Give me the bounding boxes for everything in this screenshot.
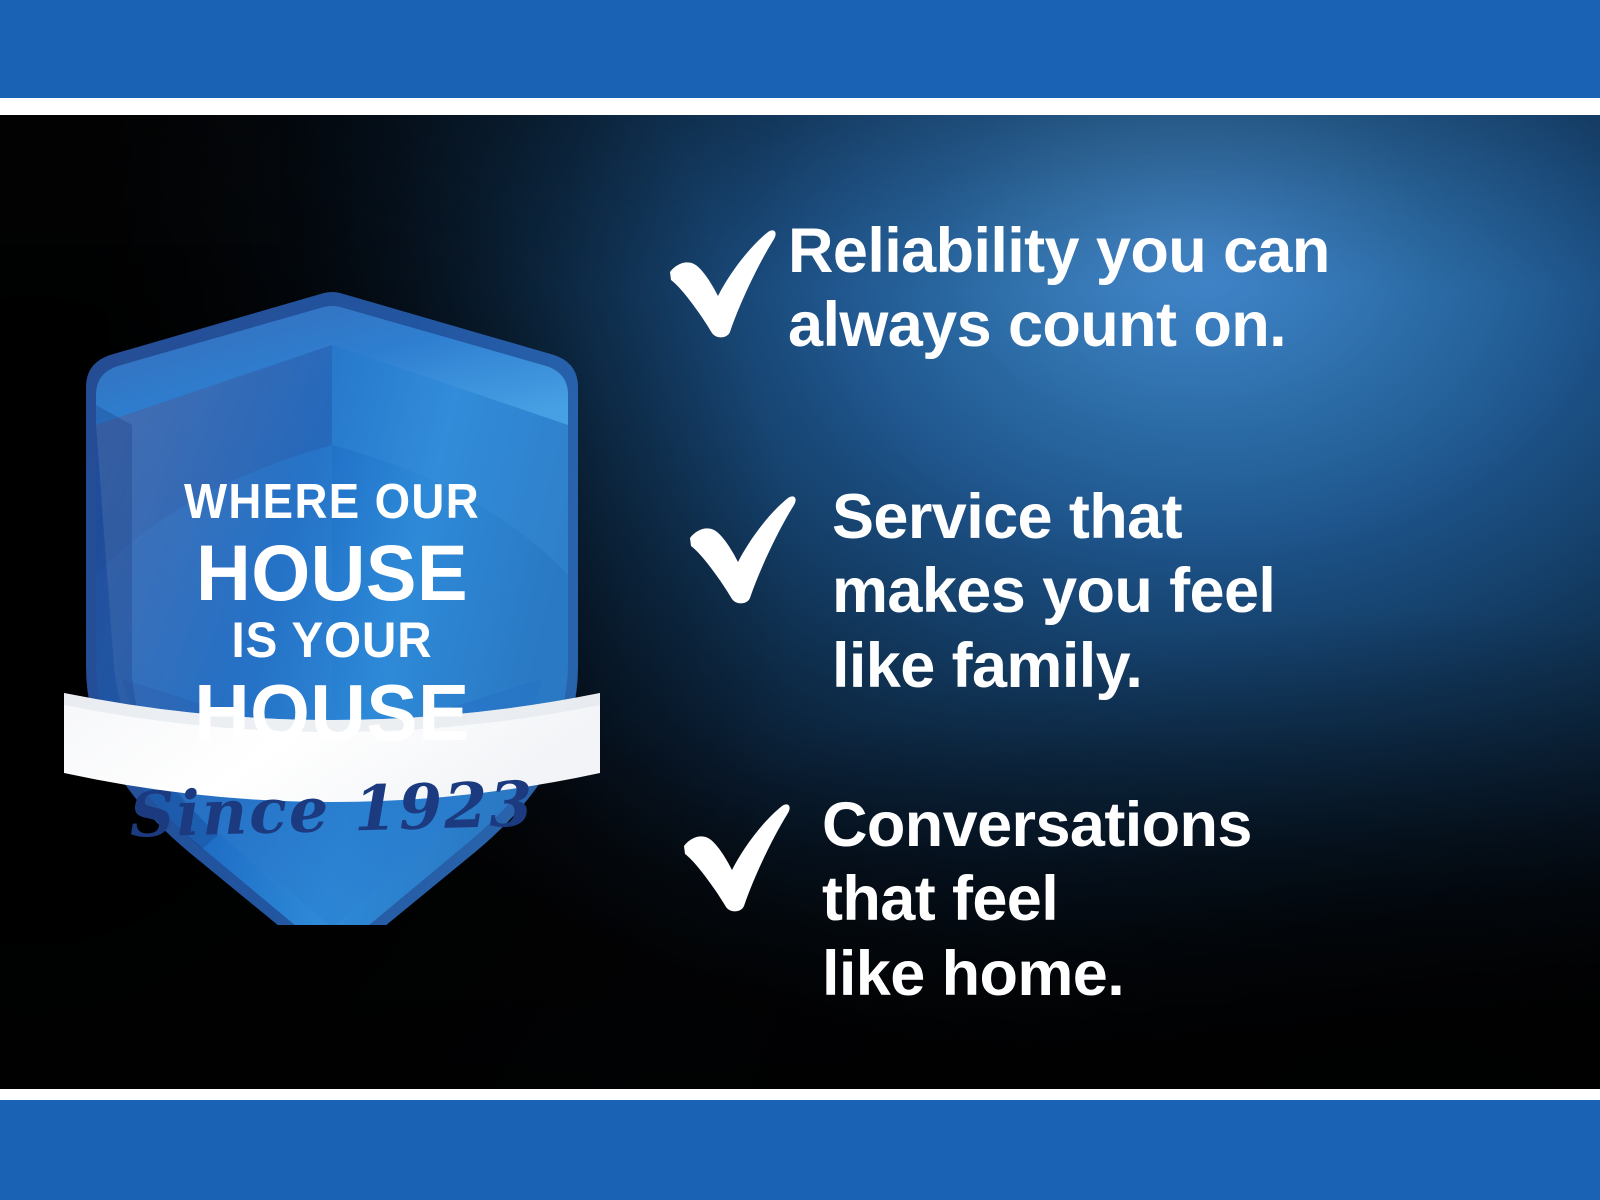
grain-texture-overlay [0, 115, 280, 245]
badge-line-1: Where Our [81, 478, 583, 527]
badge-line-3: Is Your [76, 615, 589, 665]
top-white-divider [0, 98, 1600, 115]
list-item: Conversations that feel like home. [674, 784, 1252, 1011]
benefit-text: Reliability you can always count on. [788, 210, 1330, 363]
benefit-text: Service that makes you feel like family. [808, 476, 1275, 703]
check-icon [660, 210, 788, 340]
badge-ribbon-text: Since 1923 [61, 765, 603, 853]
benefit-text: Conversations that feel like home. [802, 784, 1252, 1011]
bottom-brand-bar [0, 1100, 1600, 1200]
list-item: Service that makes you feel like family. [680, 476, 1275, 703]
bottom-white-divider [0, 1089, 1600, 1100]
badge-line-4: House [73, 673, 591, 753]
check-icon [674, 784, 802, 914]
list-item: Reliability you can always count on. [660, 210, 1330, 363]
promo-graphic: Where Our House Is Your House Since 1923… [0, 0, 1600, 1200]
badge-line-2: House [73, 533, 591, 612]
check-icon [680, 476, 808, 606]
shield-badge: Where Our House Is Your House Since 1923 [62, 275, 602, 925]
top-brand-bar [0, 0, 1600, 98]
main-canvas: Where Our House Is Your House Since 1923… [0, 115, 1600, 1089]
